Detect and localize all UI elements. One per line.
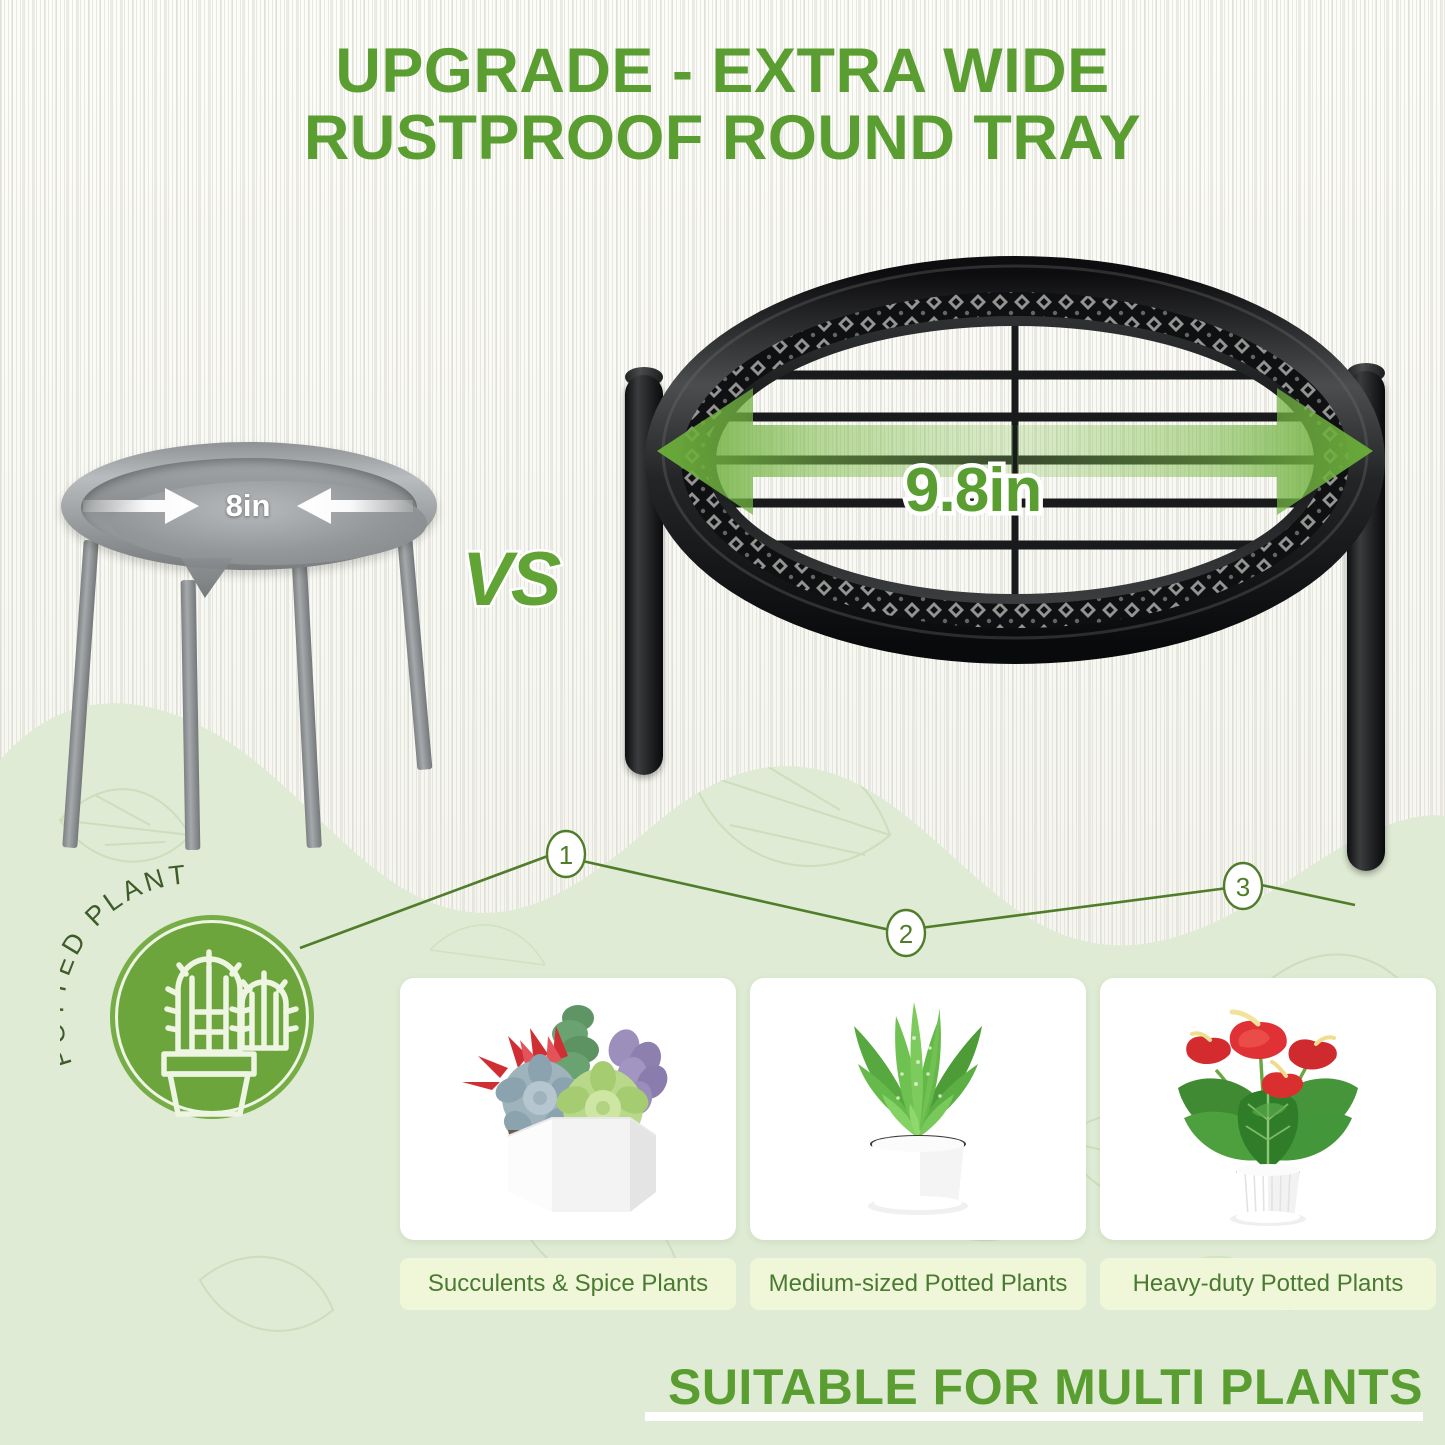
grey-leg-back <box>397 530 433 770</box>
connector-marker-1: 1 <box>547 831 585 877</box>
fluted-pot <box>1230 1164 1306 1229</box>
caption-pills: Succulents & Spice Plants Medium-sized P… <box>400 1258 1440 1310</box>
footer-underline <box>645 1412 1423 1421</box>
caption-pill-2: Medium-sized Potted Plants <box>750 1258 1086 1310</box>
plant-card-succulents[interactable] <box>400 978 736 1240</box>
succulents-hexagon-pot-photo <box>400 978 736 1240</box>
vs-label: VS <box>462 536 559 623</box>
connector-marker-3-label: 3 <box>1236 872 1250 902</box>
new-tray-illustration <box>615 225 1415 865</box>
new-tray-measurement-label: 9.8in <box>905 455 1041 526</box>
round-pot <box>868 1136 968 1218</box>
page-title: UPGRADE - EXTRA WIDE RUSTPROOF ROUND TRA… <box>0 38 1445 172</box>
old-tray-measurement-label: 8in <box>83 482 413 530</box>
old-tray-measurement: 8in <box>83 482 413 530</box>
connector-marker-1-label: 1 <box>559 840 573 870</box>
anthurium-fluted-pot-photo <box>1100 978 1436 1240</box>
plant-cards <box>400 978 1440 1240</box>
caption-pill-3: Heavy-duty Potted Plants <box>1100 1258 1436 1310</box>
aloe-round-pot-photo <box>750 978 1086 1240</box>
headline-line-1: UPGRADE - EXTRA WIDE <box>335 36 1109 106</box>
headline-line-2: RUSTPROOF ROUND TRAY <box>0 105 1445 172</box>
footer-headline: SUITABLE FOR MULTI PLANTS <box>0 1358 1445 1416</box>
hexagon-pot <box>508 1118 656 1212</box>
plant-card-aloe[interactable] <box>750 978 1086 1240</box>
connector-marker-3: 3 <box>1224 863 1262 909</box>
connector-marker-2-label: 2 <box>899 919 913 949</box>
aloe-leaves <box>854 1002 982 1140</box>
caption-pill-1: Succulents & Spice Plants <box>400 1258 736 1310</box>
infographic-canvas: UPGRADE - EXTRA WIDE RUSTPROOF ROUND TRA… <box>0 0 1445 1445</box>
connector-marker-2: 2 <box>887 910 925 956</box>
plant-card-anthurium[interactable] <box>1100 978 1436 1240</box>
